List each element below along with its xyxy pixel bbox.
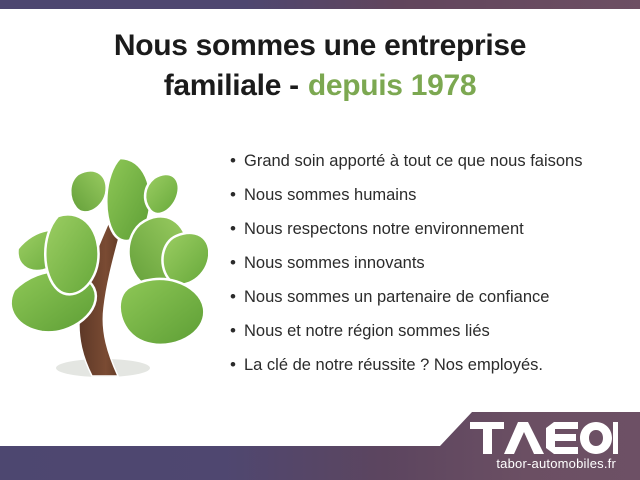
list-item-label: Nous et notre région sommes liés bbox=[244, 318, 490, 344]
promotional-slide: Nous sommes une entreprise familiale -de… bbox=[0, 0, 640, 480]
bullet-marker-icon: • bbox=[230, 250, 244, 276]
bullet-marker-icon: • bbox=[230, 148, 244, 174]
headline-line-1: Nous sommes une entreprise bbox=[0, 26, 640, 66]
bullet-marker-icon: • bbox=[230, 284, 244, 310]
bullet-marker-icon: • bbox=[230, 182, 244, 208]
bullet-marker-icon: • bbox=[230, 318, 244, 344]
list-item: • Grand soin apporté à tout ce que nous … bbox=[230, 148, 630, 182]
list-item-label: Nous sommes un partenaire de confiance bbox=[244, 284, 549, 310]
headline-line-2: familiale -depuis 1978 bbox=[0, 66, 640, 106]
tree-leaf-top-small bbox=[70, 170, 106, 212]
tree-leaf-top-right-small bbox=[145, 174, 179, 214]
list-item: • Nous sommes humains bbox=[230, 182, 630, 216]
tree-leaf-right-outer bbox=[162, 233, 208, 285]
list-item: • Nous respectons notre environnement bbox=[230, 216, 630, 250]
list-item: • Nous et notre région sommes liés bbox=[230, 318, 630, 352]
tree-illustration bbox=[8, 140, 208, 390]
list-item-label: Nous sommes innovants bbox=[244, 250, 425, 276]
top-accent-bar bbox=[0, 0, 640, 9]
headline-accent-since-1978: depuis 1978 bbox=[308, 69, 476, 102]
tree-leaf-right-lower bbox=[120, 279, 205, 345]
list-item-label: Nous sommes humains bbox=[244, 182, 416, 208]
page-title: Nous sommes une entreprise familiale -de… bbox=[0, 26, 640, 106]
list-item: • La clé de notre réussite ? Nos employé… bbox=[230, 352, 630, 386]
list-item-label: Grand soin apporté à tout ce que nous fa… bbox=[244, 148, 582, 174]
tabor-logo[interactable]: tabor-automobiles.fr bbox=[438, 422, 618, 472]
value-proposition-list: • Grand soin apporté à tout ce que nous … bbox=[230, 148, 630, 386]
bullet-marker-icon: • bbox=[230, 216, 244, 242]
list-item: • Nous sommes un partenaire de confiance bbox=[230, 284, 630, 318]
list-item: • Nous sommes innovants bbox=[230, 250, 630, 284]
tree-leaf-left-mid bbox=[45, 214, 98, 294]
bullet-marker-icon: • bbox=[230, 352, 244, 378]
list-item-label: La clé de notre réussite ? Nos employés. bbox=[244, 352, 543, 378]
logo-tagline: tabor-automobiles.fr bbox=[438, 456, 618, 472]
tabor-wordmark-icon bbox=[470, 422, 618, 454]
list-item-label: Nous respectons notre environnement bbox=[244, 216, 524, 242]
headline-line-2-plain: familiale - bbox=[164, 69, 299, 102]
